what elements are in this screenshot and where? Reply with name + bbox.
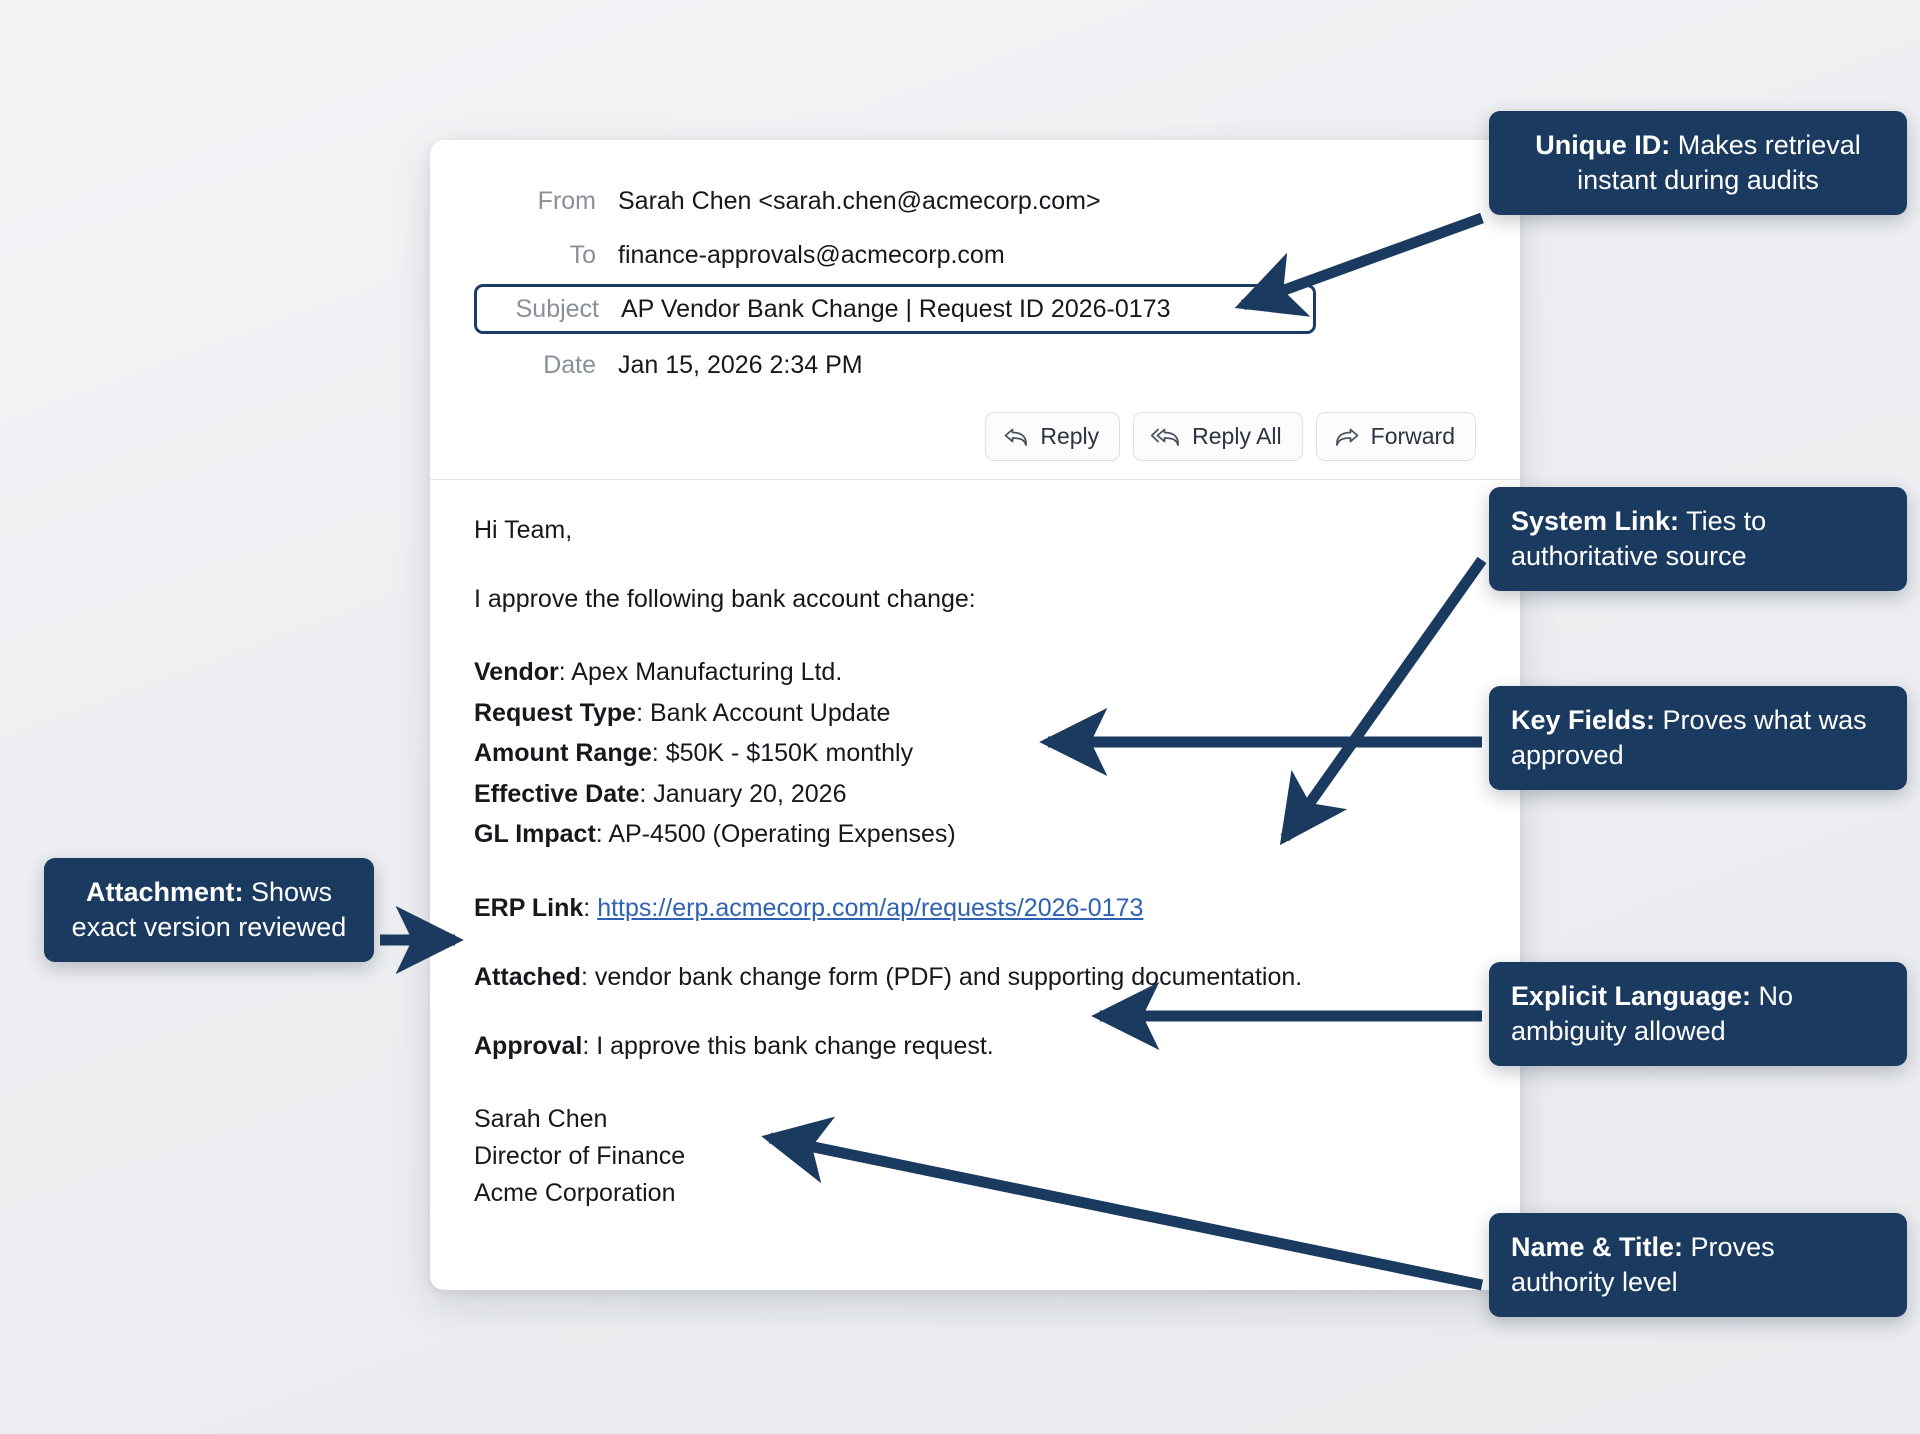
reply-button[interactable]: Reply	[985, 412, 1120, 461]
callout-system-link-lead: System Link:	[1511, 506, 1679, 536]
forward-button-label: Forward	[1371, 423, 1455, 450]
callout-unique-id-lead: Unique ID:	[1535, 130, 1670, 160]
to-value: finance-approvals@acmecorp.com	[618, 241, 1005, 270]
field-gl-impact-label: GL Impact	[474, 820, 596, 848]
email-card: From Sarah Chen <sarah.chen@acmecorp.com…	[430, 140, 1520, 1290]
field-vendor: Vendor: Apex Manufacturing Ltd.	[474, 656, 1476, 690]
field-vendor-value: Apex Manufacturing Ltd.	[571, 658, 842, 686]
body-intro: I approve the following bank account cha…	[474, 587, 1476, 612]
callout-unique-id: Unique ID: Makes retrieval instant durin…	[1489, 111, 1907, 215]
field-request-type: Request Type: Bank Account Update	[474, 697, 1476, 731]
field-amount-range: Amount Range: $50K - $150K monthly	[474, 737, 1476, 771]
field-amount-range-label: Amount Range	[474, 739, 652, 767]
signature-name: Sarah Chen	[474, 1103, 1476, 1136]
header-row-to: To finance-approvals@acmecorp.com	[474, 228, 1476, 282]
header-row-from: From Sarah Chen <sarah.chen@acmecorp.com…	[474, 174, 1476, 228]
header-row-subject-highlighted: Subject AP Vendor Bank Change | Request …	[474, 284, 1316, 334]
approval-label: Approval	[474, 1032, 582, 1060]
erp-link-url[interactable]: https://erp.acmecorp.com/ap/requests/202…	[597, 894, 1143, 922]
field-amount-range-value: $50K - $150K monthly	[666, 739, 913, 767]
signature-block: Sarah Chen Director of Finance Acme Corp…	[474, 1103, 1476, 1211]
signature-company: Acme Corporation	[474, 1177, 1476, 1210]
field-effective-date: Effective Date: January 20, 2026	[474, 778, 1476, 812]
callout-key-fields: Key Fields: Proves what was approved	[1489, 686, 1907, 790]
attached-line: Attached: vendor bank change form (PDF) …	[474, 965, 1476, 990]
body-greeting: Hi Team,	[474, 518, 1476, 543]
field-request-type-label: Request Type	[474, 699, 636, 727]
reply-all-button-label: Reply All	[1192, 423, 1281, 450]
reply-all-button[interactable]: Reply All	[1133, 412, 1302, 461]
callout-attachment-lead: Attachment:	[86, 877, 244, 907]
subject-label: Subject	[477, 295, 621, 324]
forward-arrow-icon	[1334, 426, 1360, 448]
reply-arrow-icon	[1003, 426, 1029, 448]
from-label: From	[474, 187, 618, 216]
field-gl-impact: GL Impact: AP-4500 (Operating Expenses)	[474, 818, 1476, 852]
forward-button[interactable]: Forward	[1316, 412, 1476, 461]
callout-key-fields-lead: Key Fields:	[1511, 705, 1655, 735]
field-effective-date-value: January 20, 2026	[653, 780, 846, 808]
email-action-toolbar: Reply Reply All Forward	[430, 398, 1520, 480]
callout-explicit-language-lead: Explicit Language:	[1511, 981, 1751, 1011]
field-vendor-label: Vendor	[474, 658, 559, 686]
reply-all-arrow-icon	[1151, 426, 1181, 448]
field-request-type-value: Bank Account Update	[650, 699, 890, 727]
callout-system-link: System Link: Ties to authoritative sourc…	[1489, 487, 1907, 591]
key-fields-block: Vendor: Apex Manufacturing Ltd. Request …	[474, 656, 1476, 852]
field-gl-impact-value: AP-4500 (Operating Expenses)	[608, 820, 955, 848]
callout-attachment: Attachment: Shows exact version reviewed	[44, 858, 374, 962]
attached-value: vendor bank change form (PDF) and suppor…	[595, 963, 1302, 991]
email-header: From Sarah Chen <sarah.chen@acmecorp.com…	[430, 140, 1520, 398]
erp-link-line: ERP Link: https://erp.acmecorp.com/ap/re…	[474, 896, 1476, 921]
approval-line: Approval: I approve this bank change req…	[474, 1034, 1476, 1059]
reply-button-label: Reply	[1040, 423, 1099, 450]
callout-explicit-language: Explicit Language: No ambiguity allowed	[1489, 962, 1907, 1066]
attached-label: Attached	[474, 963, 581, 991]
header-row-date: Date Jan 15, 2026 2:34 PM	[474, 338, 1476, 392]
subject-value: AP Vendor Bank Change | Request ID 2026-…	[621, 295, 1170, 324]
from-value: Sarah Chen <sarah.chen@acmecorp.com>	[618, 187, 1101, 216]
field-effective-date-label: Effective Date	[474, 780, 639, 808]
email-body: Hi Team, I approve the following bank ac…	[430, 480, 1520, 1210]
to-label: To	[474, 241, 618, 270]
erp-link-label: ERP Link	[474, 894, 583, 922]
date-label: Date	[474, 351, 618, 380]
signature-title: Director of Finance	[474, 1140, 1476, 1173]
approval-value: I approve this bank change request.	[596, 1032, 994, 1060]
date-value: Jan 15, 2026 2:34 PM	[618, 351, 863, 380]
callout-name-title: Name & Title: Proves authority level	[1489, 1213, 1907, 1317]
callout-name-title-lead: Name & Title:	[1511, 1232, 1683, 1262]
